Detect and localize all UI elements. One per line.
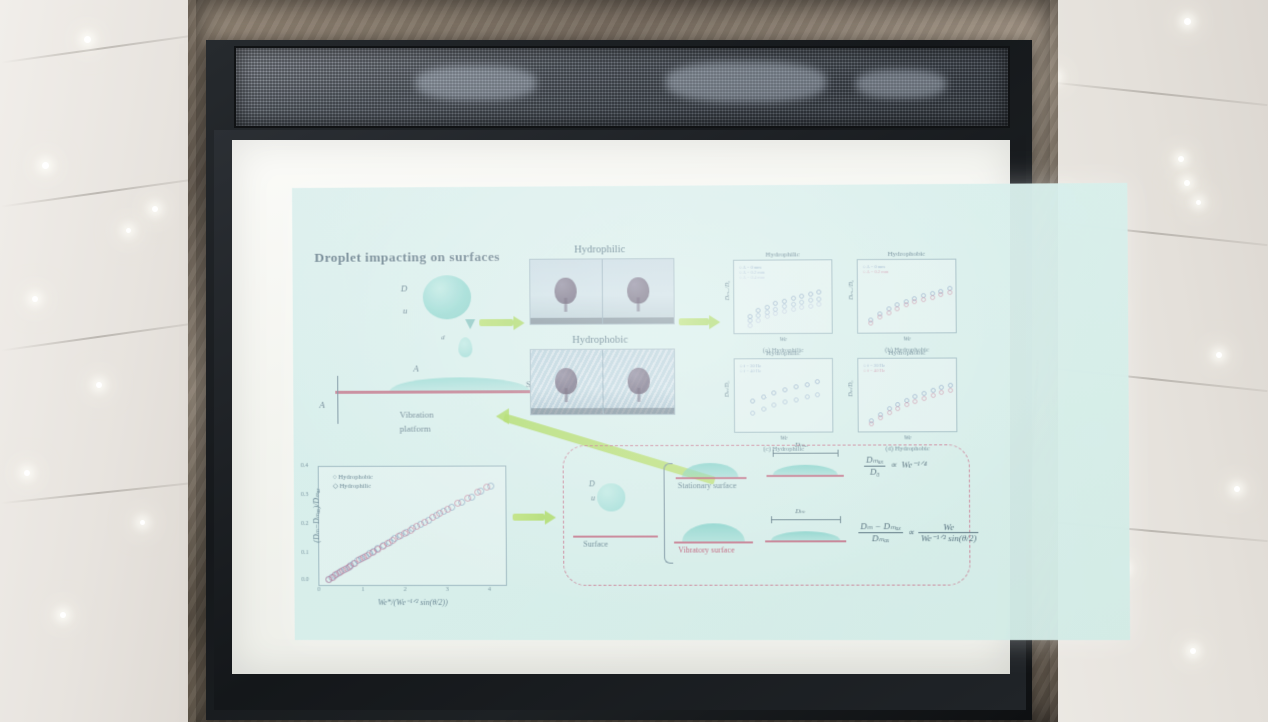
ceiling-spotlight: [24, 470, 30, 476]
data-point: [773, 301, 778, 306]
chart-main-collapse: ○ Hydrophobic ◇ Hydrophilic We*/(We⁻¹ᐟ² …: [318, 466, 507, 586]
legend-marker-icon: ○: [333, 474, 337, 481]
ceiling-spotlight: [1216, 352, 1222, 358]
xtick: 4: [488, 587, 491, 593]
chart-hydrophilic-dmax: Hydrophilic Dₘₐₓ/D₀ We (a) Hydrophilic ○…: [733, 259, 833, 334]
projected-slide: Droplet impacting on surfaces D u d A A …: [292, 183, 1130, 640]
legend-item: ○ f = 40 Hz: [863, 368, 884, 373]
ytick: 0.3: [301, 492, 309, 498]
vibratory-flat-surface: [765, 540, 846, 542]
data-point: [772, 390, 777, 395]
data-point: [817, 290, 822, 295]
ceiling-spotlight: [32, 296, 38, 302]
data-point: [815, 393, 820, 398]
chart-ylabel: Dₘ/D₀: [847, 380, 854, 396]
ceiling-spotlight: [1178, 156, 1184, 162]
data-point: [761, 406, 766, 411]
chart-title: Hydrophilic: [734, 250, 831, 259]
ceiling-spotlight: [152, 206, 158, 212]
stationary-surface-label: Stationary surface: [678, 481, 737, 490]
legend-label: Hydrophobic: [338, 474, 372, 481]
data-point: [484, 483, 491, 490]
ceiling-spotlight: [60, 612, 66, 618]
chart-legend: ○ f = 20 Hz○ f = 40 Hz: [863, 363, 884, 373]
chart-xlabel: We*/(We⁻¹ᐟ² sin(θ/2)): [320, 598, 507, 607]
data-point: [429, 514, 436, 521]
data-point: [948, 387, 953, 392]
chart-xlabel: We: [859, 435, 957, 441]
summary-droplet: [597, 483, 625, 511]
data-point: [922, 396, 927, 401]
data-point: [799, 294, 804, 299]
video-timebar: [603, 317, 674, 323]
data-point: [750, 399, 755, 404]
proportional-sign: ∝: [888, 460, 899, 470]
branch-brace-icon: [663, 463, 673, 564]
data-point: [421, 518, 428, 525]
data-point: [913, 399, 918, 404]
chart-ylabel: Dₘ/D₀: [723, 381, 730, 397]
data-point: [791, 296, 796, 301]
video-frame: [601, 259, 674, 324]
droplet-diameter-label: D: [401, 283, 408, 293]
data-point: [782, 387, 787, 392]
chart-hydrophobic-dmax: Hydrophobic Dₘₐₓ/D₀ We (b) Hydrophobic ○…: [857, 259, 957, 334]
data-point: [869, 321, 874, 326]
chart-xlabel: We: [735, 436, 832, 442]
dimension-cap-icon: [840, 516, 841, 523]
data-point: [764, 304, 769, 309]
xtick: 1: [361, 587, 364, 593]
stationary-surface-line: [676, 477, 747, 479]
summary-velocity-label: u: [591, 493, 595, 502]
data-point: [817, 296, 822, 301]
dim-label-dmax: Dₘₐₓ: [795, 441, 809, 449]
vibration-platform-label-line2: platform: [400, 424, 431, 434]
data-point: [886, 310, 891, 315]
legend-label: Hydrophilic: [339, 483, 371, 490]
legend-item: ○ A = 0.4 mm: [739, 275, 764, 280]
left-wall-panel: [0, 0, 196, 722]
equation-vibratory: Dₘ − Dₘₐₓ Dₘₐₓ ∝ We We⁻¹ᐟ² sin(θ/2): [858, 521, 978, 544]
xtick: 0: [317, 587, 320, 593]
ceiling-spotlight: [1234, 486, 1240, 492]
ceiling-spotlight: [1184, 180, 1190, 186]
data-point: [904, 303, 909, 308]
ceiling-spotlight: [126, 228, 131, 233]
data-point: [930, 295, 935, 300]
video-label-hydrophobic: Hydrophobic: [530, 334, 671, 346]
summary-surface-label: Surface: [583, 540, 608, 549]
summary-surface-line: [573, 536, 658, 538]
chart-ylabel: Dₘₐₓ/D₀: [848, 280, 855, 300]
led-banner-display[interactable]: [234, 46, 1010, 128]
vibratory-surface-line: [674, 541, 753, 543]
ceiling-spotlight: [96, 382, 102, 388]
data-point: [895, 406, 900, 411]
droplet-illustration: [423, 275, 471, 319]
data-point: [939, 390, 944, 395]
ytick: 0.2: [301, 521, 309, 527]
dimension-cap-icon: [771, 516, 772, 523]
data-point: [877, 314, 882, 319]
spread-label-d: d: [441, 333, 445, 341]
legend-item-hydrophobic: ○ Hydrophobic: [333, 473, 373, 482]
data-point: [782, 400, 787, 405]
fraction-rhs: We We⁻¹ᐟ² sin(θ/2): [919, 521, 979, 543]
stationary-flat-surface: [767, 475, 844, 477]
data-point: [761, 394, 766, 399]
video-frame: [531, 350, 602, 414]
summary-drop-label: D: [589, 479, 595, 488]
data-point: [808, 298, 813, 303]
data-point: [444, 505, 451, 512]
dimension-cap-icon: [773, 450, 774, 457]
vibration-platform-label-line1: Vibration: [399, 410, 433, 420]
amplitude-label-A: A: [413, 364, 419, 374]
data-point: [887, 410, 892, 415]
chart-legend: ○ A = 0 mm○ A = 0.2 mm: [863, 264, 889, 274]
data-point: [938, 292, 943, 297]
chart-legend: ○ A = 0 mm○ A = 0.2 mm○ A = 0.4 mm: [739, 265, 765, 280]
droplet-velocity-label: u: [403, 305, 408, 315]
fraction-lhs: Dₘ − Dₘₐₓ Dₘₐₓ: [858, 521, 903, 544]
ceiling-spotlight: [84, 36, 91, 43]
dimension-arrow-icon: [773, 453, 838, 454]
proportional-sign: ∝: [905, 527, 916, 537]
data-point: [948, 382, 953, 387]
data-point: [947, 290, 952, 295]
droplet-stem: [636, 298, 639, 312]
data-point: [791, 307, 796, 312]
data-point: [808, 303, 813, 308]
legend-item-hydrophilic: ◇ Hydrophilic: [333, 482, 373, 491]
video-label-hydrophilic: Hydrophilic: [529, 244, 670, 256]
equation-stationary: Dₘₐₓ D₀ ∝ We⁻¹ᐟ⁴: [864, 454, 927, 476]
data-point: [773, 311, 778, 316]
data-point: [765, 314, 770, 319]
slide-title: Droplet impacting on surfaces: [314, 249, 500, 266]
led-banner-text: [236, 48, 1008, 126]
data-point: [474, 489, 481, 496]
dim-label-dm: Dₘ: [795, 507, 805, 515]
chart-title: Hydrophobic: [858, 348, 956, 356]
data-point: [413, 523, 420, 530]
legend-item: ○ A = 0.2 mm: [863, 269, 889, 274]
ytick: 0.1: [301, 550, 309, 556]
xtick: 3: [446, 587, 449, 593]
vibratory-surface-label: Vibratory surface: [678, 545, 734, 554]
data-point: [782, 298, 787, 303]
fraction-numerator: Dₘ − Dₘₐₓ: [858, 521, 903, 533]
chart-ylabel: (Dₘ−Dₘₐₓ)/Dₘₐₓ: [312, 488, 321, 543]
chart-ylabel: Dₘₐₓ/D₀: [724, 281, 731, 301]
ytick: 0.4: [301, 463, 309, 469]
fraction: Dₘₐₓ D₀: [864, 455, 886, 477]
chart-title: Hydrophilic: [735, 349, 832, 357]
legend-marker-icon: ◇: [333, 483, 338, 490]
data-point: [750, 411, 755, 416]
legend-item: ○ f = 40 Hz: [740, 368, 761, 373]
dimension-cap-icon: [838, 450, 839, 457]
fraction-denominator: Dₘₐₓ: [858, 533, 903, 544]
video-timebar: [531, 318, 602, 324]
chart-title: Hydrophobic: [858, 250, 956, 259]
data-point: [817, 302, 822, 307]
equation-rhs: We⁻¹ᐟ⁴: [901, 460, 927, 470]
amplitude-arrow-icon: [337, 376, 338, 424]
droplet-stem: [637, 388, 640, 402]
data-point: [756, 318, 761, 323]
data-point: [747, 323, 752, 328]
chart-xlabel: We: [735, 337, 832, 343]
data-point: [804, 382, 809, 387]
video-frame: [530, 259, 601, 324]
fraction-numerator: Dₘₐₓ: [864, 455, 886, 467]
video-timebar: [531, 408, 602, 414]
data-point: [437, 510, 444, 517]
fraction-denominator: We⁻¹ᐟ² sin(θ/2): [919, 533, 979, 544]
data-point: [921, 297, 926, 302]
chart-hydrophilic-dm: Hydrophilic Dₘ/D₀ We (c) Hydrophilic ○ f…: [734, 358, 834, 433]
ceiling-spotlight: [1196, 200, 1201, 205]
data-point: [782, 309, 787, 314]
ceiling-spotlight: [1190, 648, 1196, 654]
ceiling-spotlight: [140, 520, 145, 525]
fraction-denominator: D₀: [864, 467, 886, 477]
chart-legend: ○ Hydrophobic ◇ Hydrophilic: [333, 473, 373, 491]
data-point: [793, 384, 798, 389]
data-point: [895, 306, 900, 311]
ytick: 0.0: [301, 577, 309, 583]
data-point: [464, 494, 471, 501]
data-point: [804, 395, 809, 400]
impact-direction-arrow-icon: [465, 319, 475, 329]
droplet-falling: [458, 337, 472, 357]
data-point: [793, 397, 798, 402]
dimension-arrow-icon: [771, 519, 840, 520]
droplet-stem: [565, 388, 568, 402]
chart-hydrophobic-dm: Hydrophobic Dₘ/D₀ We (d) Hydrophobic ○ f…: [857, 358, 957, 433]
fraction-numerator: We: [919, 521, 979, 532]
chart-xlabel: We: [858, 336, 956, 342]
droplet-stem: [564, 298, 567, 312]
data-point: [878, 415, 883, 420]
data-point: [799, 305, 804, 310]
xtick: 2: [404, 587, 407, 593]
video-frame: [602, 350, 675, 415]
chart-legend: ○ f = 20 Hz○ f = 40 Hz: [740, 363, 761, 373]
data-point: [930, 392, 935, 397]
data-point: [815, 380, 820, 385]
data-point: [912, 299, 917, 304]
data-point: [808, 292, 813, 297]
frequency-label: A: [319, 400, 325, 410]
ceiling-spotlight: [1184, 18, 1191, 25]
data-point: [904, 402, 909, 407]
ceiling-spotlight: [42, 162, 49, 169]
data-point: [772, 403, 777, 408]
data-point: [454, 500, 461, 507]
video-timebar: [603, 408, 674, 414]
room-photo: Droplet impacting on surfaces D u d A A …: [0, 0, 1268, 722]
